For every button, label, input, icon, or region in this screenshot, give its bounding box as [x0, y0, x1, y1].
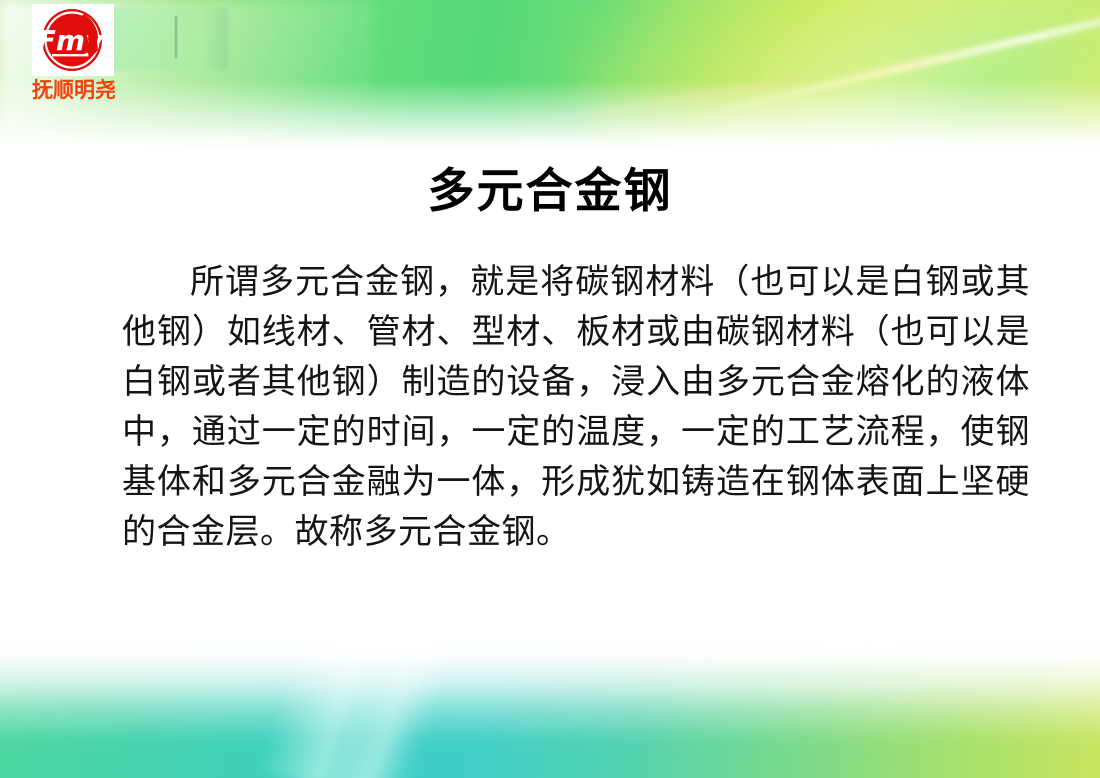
bottom-banner-graphic — [0, 630, 1100, 778]
fmy-logo-icon: Fmy — [32, 4, 114, 76]
company-logo: Fmy 抚顺明尧 — [32, 4, 114, 101]
banner-vertical-line — [175, 16, 177, 58]
top-banner-graphic — [0, 0, 1100, 152]
footer-top-fade — [0, 630, 1100, 748]
slide-body-paragraph: 所谓多元合金钢，就是将碳钢材料（也可以是白钢或其他钢）如线材、管材、型材、板材或… — [0, 257, 1100, 557]
presentation-slide: Fmy 抚顺明尧 多元合金钢 所谓多元合金钢，就是将碳钢材料（也可以是白钢或其他… — [0, 0, 1100, 778]
slide-content: 多元合金钢 所谓多元合金钢，就是将碳钢材料（也可以是白钢或其他钢）如线材、管材、… — [0, 152, 1100, 557]
slide-title: 多元合金钢 — [0, 165, 1100, 219]
banner-bottom-fade — [0, 80, 1100, 152]
company-name-label: 抚顺明尧 — [26, 80, 122, 101]
banner-inner-panel — [108, 8, 228, 70]
